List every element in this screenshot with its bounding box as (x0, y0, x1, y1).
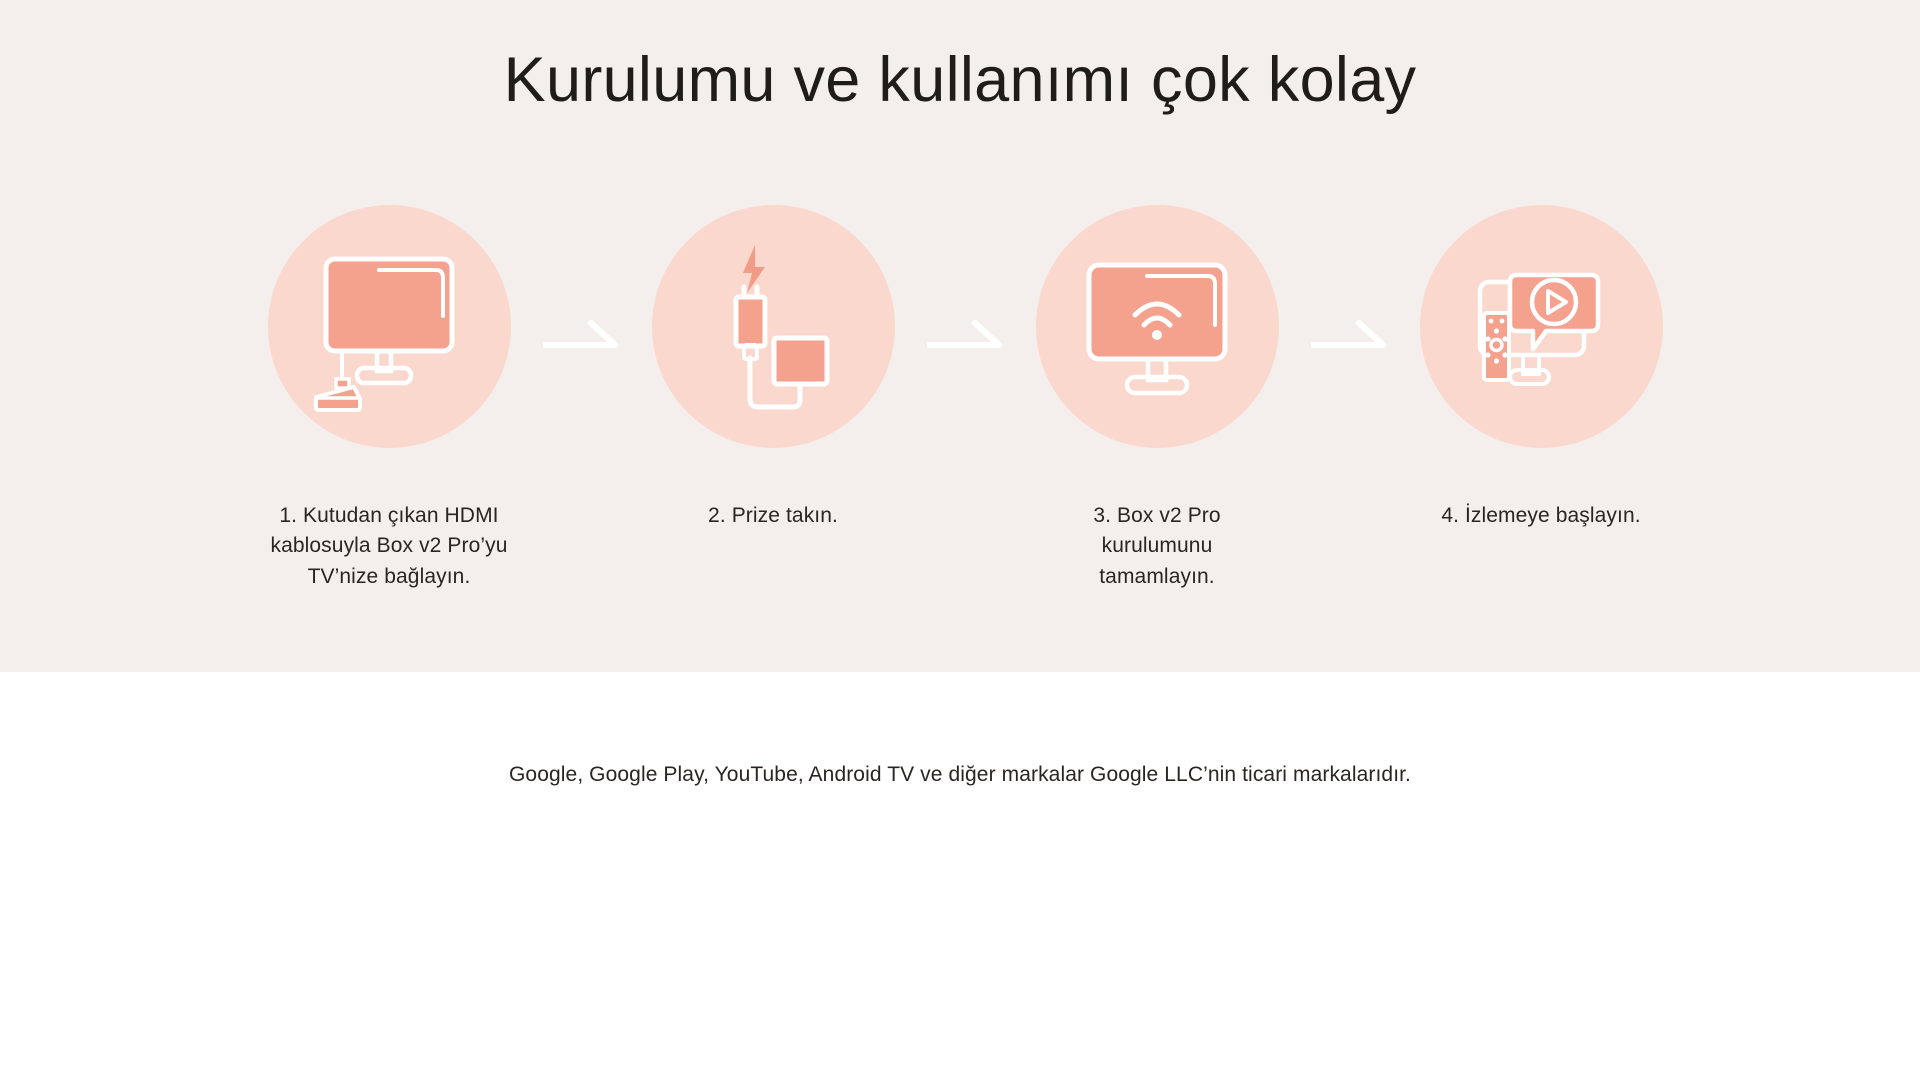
hero-section: Kurulumu ve kullanımı çok kolay (0, 0, 1920, 672)
setup-steps-page: Kurulumu ve kullanımı çok kolay (0, 0, 1920, 1068)
arrow-step-1-to-2 (537, 315, 625, 355)
step-4-caption: 4. İzlemeye başlayın. (1441, 501, 1640, 531)
arrow-step-2-to-3 (921, 315, 1009, 355)
page-title: Kurulumu ve kullanımı çok kolay (0, 42, 1920, 119)
step-item-3: 3. Box v2 Pro kurulumunu tamamlayın. (1023, 205, 1291, 592)
step-2-caption: 2. Prize takın. (708, 501, 838, 531)
arrow-step-3-to-4 (1305, 315, 1393, 355)
footer-section: Google, Google Play, YouTube, Android TV… (0, 672, 1920, 1068)
arrow-right-icon (543, 315, 619, 355)
step-2-icon-circle (652, 205, 895, 448)
step-item-1: 1. Kutudan çıkan HDMI kablosuyla Box v2 … (255, 205, 523, 592)
step-1-icon-circle (268, 205, 511, 448)
step-3-caption: 3. Box v2 Pro kurulumunu tamamlayın. (1070, 501, 1245, 592)
step-4-icon-circle (1420, 205, 1663, 448)
step-1-caption: 1. Kutudan çıkan HDMI kablosuyla Box v2 … (255, 501, 523, 592)
steps-row: 1. Kutudan çıkan HDMI kablosuyla Box v2 … (255, 205, 1675, 625)
trademark-note: Google, Google Play, YouTube, Android TV… (0, 760, 1920, 789)
step-item-2: 2. Prize takın. (639, 205, 907, 531)
tv-with-hdmi-box-icon (299, 237, 479, 417)
arrow-right-icon (1311, 315, 1387, 355)
step-3-icon-circle (1036, 205, 1279, 448)
step-item-4: 4. İzlemeye başlayın. (1407, 205, 1675, 531)
tv-with-wifi-icon (1067, 237, 1247, 417)
arrow-right-icon (927, 315, 1003, 355)
tv-with-remote-and-play-icon (1451, 237, 1631, 417)
power-plug-with-bolt-icon (683, 237, 863, 417)
